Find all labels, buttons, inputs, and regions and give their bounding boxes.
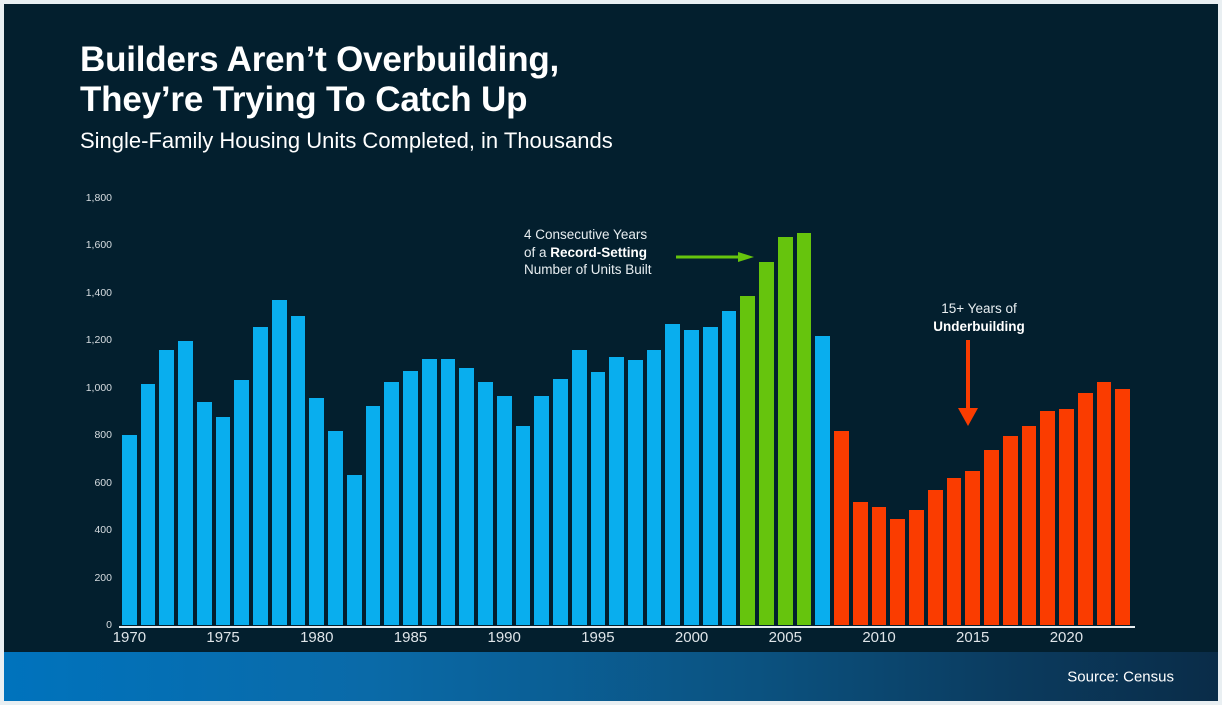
bar [889,519,906,625]
y-axis-tick-label: 0 [106,620,112,630]
y-axis-tick-label: 1,400 [86,288,112,298]
bar [515,426,532,625]
bar [627,360,644,625]
bar [721,311,738,625]
bar [796,233,813,625]
bar [140,384,157,625]
bar [664,324,681,625]
x-axis-tick-label: 2000 [675,629,708,646]
x-axis-tick-label: 1995 [581,629,614,646]
bar [964,471,981,625]
bar [608,357,625,625]
bar [590,372,607,625]
bar [1096,382,1113,625]
annotation-underbuilding-line-1: 15+ Years of [904,300,1054,318]
bar [346,475,363,625]
bar [1114,389,1131,626]
bar [196,402,213,625]
bar [233,380,250,625]
bar [1077,393,1094,625]
bar [1058,409,1075,625]
bar [852,502,869,625]
x-axis-tick-label: 2010 [862,629,895,646]
bar [739,296,756,625]
y-axis-tick-label: 200 [94,573,112,583]
bar [177,341,194,625]
bar [271,300,288,625]
bar [571,350,588,625]
bar [252,327,269,625]
y-axis-tick-label: 1,000 [86,383,112,393]
footer-bar: Source: Census [4,652,1218,701]
x-axis-tick-label: 1985 [394,629,427,646]
annotation-record-line-2-bold: Record-Setting [550,245,647,260]
bar [308,398,325,625]
bar [421,359,438,625]
bar [290,316,307,625]
bar [552,379,569,625]
bar [121,435,138,625]
bar [908,510,925,625]
bar [402,371,419,625]
bar [946,478,963,625]
bar [158,350,175,625]
y-axis-tick-label: 1,600 [86,240,112,250]
bar [327,431,344,625]
bar [777,237,794,625]
bar [215,417,232,625]
right-arrow-icon [676,252,754,262]
bar [983,450,1000,625]
bar [440,359,457,625]
bar [702,327,719,625]
bar [871,507,888,625]
bar [1021,426,1038,625]
x-axis-tick-label: 1980 [300,629,333,646]
annotation-record-line-1: 4 Consecutive Years [524,226,724,244]
x-axis-tick-label: 1975 [206,629,239,646]
y-axis-tick-label: 400 [94,525,112,535]
bar [927,490,944,625]
title-block: Builders Aren’t Overbuilding, They’re Tr… [80,40,940,154]
bar [833,431,850,625]
chart-subtitle: Single-Family Housing Units Completed, i… [80,128,940,154]
bar [496,396,513,625]
x-axis-tick-label: 1990 [487,629,520,646]
bar [758,262,775,625]
bar [1002,436,1019,625]
down-arrow-icon [956,340,980,426]
slide-canvas: Builders Aren’t Overbuilding, They’re Tr… [0,0,1222,705]
annotation-underbuilding-line-2: Underbuilding [933,319,1025,334]
bar [533,396,550,625]
y-axis-tick-label: 1,200 [86,335,112,345]
x-axis-baseline [119,626,1135,628]
x-axis-tick-label: 2005 [769,629,802,646]
bar [477,382,494,625]
y-axis-tick-label: 1,800 [86,193,112,203]
page-title-line-1: Builders Aren’t Overbuilding, [80,40,940,80]
bar [458,368,475,625]
y-axis-tick-label: 600 [94,478,112,488]
bar [365,406,382,625]
bar [383,382,400,625]
x-axis-tick-label: 2015 [956,629,989,646]
x-axis-tick-label: 1970 [113,629,146,646]
annotation-record-line-2-pre: of a [524,245,550,260]
annotation-underbuilding: 15+ Years of Underbuilding [904,300,1054,336]
y-axis-tick-label: 800 [94,430,112,440]
bar [1039,411,1056,625]
annotation-record-line-3: Number of Units Built [524,261,724,279]
source-label: Source: Census [1067,668,1174,685]
x-axis-tick-label: 2020 [1050,629,1083,646]
bar [814,336,831,625]
bar [646,350,663,625]
page-title-line-2: They’re Trying To Catch Up [80,80,940,120]
bar [683,330,700,625]
